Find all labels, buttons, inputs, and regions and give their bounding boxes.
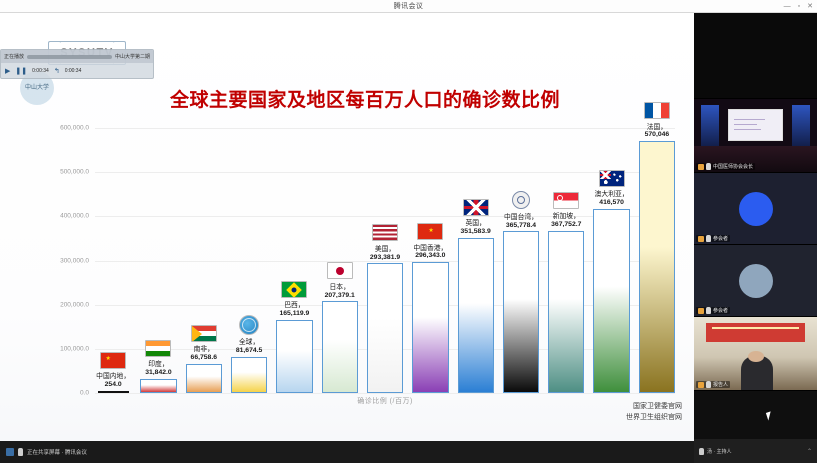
bar-value-label: 31,842.0 xyxy=(145,369,171,377)
bar-value-label: 570,046 xyxy=(645,131,670,139)
flag-hongkong-icon: ★ xyxy=(417,223,443,240)
player-seek-bar[interactable] xyxy=(27,55,112,59)
bar xyxy=(593,209,629,393)
bar-value-label: 365,778.4 xyxy=(504,222,538,230)
y-axis-tick: 100,000.0 xyxy=(60,345,89,352)
y-axis-tick: 200,000.0 xyxy=(60,301,89,308)
bar-item: 日本，207,379.1 xyxy=(322,128,358,393)
y-axis-tick: 400,000.0 xyxy=(60,213,89,220)
bar-label: 美国，293,381.9 xyxy=(370,246,400,262)
bar-item: 英国，351,583.9 xyxy=(458,128,494,393)
y-axis-tick: 0.0 xyxy=(80,390,89,397)
bar-value-label: 66,758.6 xyxy=(191,354,217,362)
school-badge-label: 中山大学 xyxy=(25,85,49,92)
pin-icon xyxy=(698,164,704,170)
bar-item: 印度，31,842.0 xyxy=(140,128,176,393)
globe-meridian-icon xyxy=(242,318,256,332)
bar xyxy=(367,263,403,393)
brazil-globe-icon xyxy=(292,287,297,292)
microphone-icon xyxy=(706,235,711,242)
flag-india-icon xyxy=(145,340,171,357)
bar-item: 南非，66,758.6 xyxy=(186,128,222,393)
bar-label: 中国香港，296,343.0 xyxy=(413,245,447,261)
bar-item: 全球，81,674.5 xyxy=(231,128,267,393)
flag-china-icon: ★ xyxy=(100,352,126,369)
presentation-screen xyxy=(728,109,782,141)
bar-label: 澳大利亚，416,570 xyxy=(595,191,629,207)
bar xyxy=(503,231,539,393)
window-title: 腾讯会议 xyxy=(394,1,424,11)
grid-line xyxy=(95,393,675,394)
bar-category-label: 中国香港， xyxy=(413,245,447,253)
bar xyxy=(548,231,584,393)
bar xyxy=(458,238,494,393)
bar-item: 法国，570,046 xyxy=(639,128,675,393)
source-line-1: 国家卫健委官网 xyxy=(626,402,682,413)
current-time-label: 0:00:34 xyxy=(32,68,49,74)
bar-label: 中国台湾，365,778.4 xyxy=(504,214,538,230)
bar-category-label: 全球， xyxy=(236,339,262,347)
bar-category-label: 中国内地， xyxy=(96,373,130,381)
bar-value-label: 81,674.5 xyxy=(236,347,262,355)
bar-item: 中国香港，296,343.0★ xyxy=(412,128,448,393)
pin-icon xyxy=(698,382,704,388)
bar-label: 新加坡，367,752.7 xyxy=(551,213,581,229)
flag-singapore-icon xyxy=(553,192,579,209)
bar-series: 中国内地，254.0★印度，31,842.0南非，66,758.6全球，81,6… xyxy=(95,128,675,393)
y-axis: 600,000.0500,000.0400,000.0300,000.0200,… xyxy=(35,128,93,393)
bar-value-label: 351,583.9 xyxy=(461,228,491,236)
bar-category-label: 英国， xyxy=(461,220,491,228)
bar xyxy=(186,364,222,393)
stage-light-left xyxy=(701,105,718,146)
flag-australia-icon xyxy=(599,170,625,187)
bar xyxy=(140,379,176,393)
crescent-icon xyxy=(557,195,563,201)
bar-item: 澳大利亚，416,570 xyxy=(593,128,629,393)
maximize-icon[interactable]: ▫ xyxy=(798,3,800,10)
bar-category-label: 巴西， xyxy=(279,302,309,310)
minimize-icon[interactable]: — xyxy=(784,3,791,10)
flag-brazil-icon xyxy=(281,281,307,298)
bar xyxy=(98,391,129,393)
banner-text-line xyxy=(712,327,799,329)
bar-label: 英国，351,583.9 xyxy=(461,220,491,236)
y-axis-tick: 300,000.0 xyxy=(60,257,89,264)
bar-item: 中国台湾，365,778.4 xyxy=(503,128,539,393)
bar-label: 南非，66,758.6 xyxy=(191,346,217,362)
flag-taiwan-icon xyxy=(512,191,530,209)
screen-line xyxy=(734,119,765,120)
pin-icon xyxy=(698,236,704,242)
bar-item: 巴西，165,119.9 xyxy=(276,128,312,393)
bar-value-label: 165,119.9 xyxy=(279,310,309,318)
pin-icon xyxy=(698,308,704,314)
participant-name: 参会者 xyxy=(713,235,728,242)
total-time-label: 0:00:34 xyxy=(65,68,82,74)
bar-item: 美国，293,381.9 xyxy=(367,128,403,393)
pause-icon[interactable]: ❚❚ xyxy=(15,67,27,75)
star-icon: ★ xyxy=(105,356,110,362)
play-icon[interactable]: ▶ xyxy=(5,67,10,75)
app-icon[interactable] xyxy=(6,448,14,456)
self-view-bar[interactable]: 汤 · 主持人 ⌃ xyxy=(694,439,817,463)
y-axis-tick: 500,000.0 xyxy=(60,169,89,176)
flag-france-icon xyxy=(644,102,670,119)
bar-item: 中国内地，254.0★ xyxy=(95,128,131,393)
video-tile[interactable]: 参会者 xyxy=(694,173,817,245)
bar-item: 新加坡，367,752.7 xyxy=(548,128,584,393)
x-axis-label: 确诊比例 (/百万) xyxy=(95,396,675,406)
flag-japan-icon xyxy=(327,262,353,279)
video-tile[interactable] xyxy=(694,13,817,99)
bar-value-label: 254.0 xyxy=(96,381,130,389)
sa-chevron-icon xyxy=(192,326,202,342)
slide-canvas: SYSUTV 中山大学 正在播放 中山大学第二期 ▶ ❚❚ 0:00:34 ↰ … xyxy=(0,13,694,441)
screen-line xyxy=(734,129,761,130)
watermark-rule-top xyxy=(58,41,116,42)
event-banner xyxy=(706,323,804,342)
taskbar-label: 正在共享屏幕 · 腾讯会议 xyxy=(27,448,87,456)
flag-uk-overlay xyxy=(464,200,488,215)
flag-globe-icon xyxy=(239,315,259,335)
microphone-icon xyxy=(706,163,711,170)
player-controls-row[interactable]: ▶ ❚❚ 0:00:34 ↰ 0:00:34 xyxy=(1,63,153,79)
bar-category-label: 新加坡， xyxy=(551,213,581,221)
participant-name: 报告人 xyxy=(713,381,728,388)
bar xyxy=(639,141,675,393)
bar-label: 全球，81,674.5 xyxy=(236,339,262,355)
flag-southafrica-icon xyxy=(191,325,217,342)
chart-plot-area: 600,000.0500,000.0400,000.0300,000.0200,… xyxy=(95,128,675,393)
bar xyxy=(322,301,358,393)
video-player-overlay[interactable]: 正在播放 中山大学第二期 ▶ ❚❚ 0:00:34 ↰ 0:00:34 xyxy=(0,49,154,79)
bar-category-label: 中国台湾， xyxy=(504,214,538,222)
bar xyxy=(276,320,312,393)
screen-root: 腾讯会议 — ▫ ✕ SYSUTV 中山大学 正在播放 中山大学 xyxy=(0,0,817,463)
video-tile[interactable]: 报告人 xyxy=(694,317,817,391)
bar-label: 印度，31,842.0 xyxy=(145,361,171,377)
close-icon[interactable]: ✕ xyxy=(807,3,813,10)
self-name-label: 汤 · 主持人 xyxy=(707,448,731,455)
bar-value-label: 293,381.9 xyxy=(370,254,400,262)
video-tile[interactable]: 参会者 xyxy=(694,245,817,317)
japan-sun-icon xyxy=(336,267,344,275)
star-icon: ★ xyxy=(428,228,433,234)
avatar xyxy=(739,192,773,226)
player-status-label: 正在播放 xyxy=(4,53,24,60)
participant-name-tag: 参会者 xyxy=(696,307,730,314)
bar-label: 法国，570,046 xyxy=(645,124,670,140)
bar-category-label: 澳大利亚， xyxy=(595,191,629,199)
shared-screen-stage: SYSUTV 中山大学 正在播放 中山大学第二期 ▶ ❚❚ 0:00:34 ↰ … xyxy=(0,13,694,441)
player-progress-row[interactable]: 正在播放 中山大学第二期 xyxy=(1,50,153,63)
participant-name-tag: 报告人 xyxy=(696,381,730,388)
participant-name-tag: 参会者 xyxy=(696,235,730,242)
microphone-icon[interactable] xyxy=(18,448,23,456)
source-line-2: 世界卫生组织官网 xyxy=(626,413,682,424)
participant-name-tag: 中国医师协会会长 xyxy=(696,163,755,170)
bar-category-label: 美国， xyxy=(370,246,400,254)
bar-label: 巴西，165,119.9 xyxy=(279,302,309,318)
stage-light-right xyxy=(792,105,809,146)
window-title-bar: 腾讯会议 — ▫ ✕ xyxy=(0,0,817,13)
microphone-icon xyxy=(706,307,711,314)
bar-value-label: 296,343.0 xyxy=(413,252,447,260)
bar-category-label: 法国， xyxy=(645,124,670,132)
y-axis-tick: 600,000.0 xyxy=(60,125,89,132)
source-citation: 国家卫健委官网 世界卫生组织官网 xyxy=(626,402,682,423)
flag-uk-icon xyxy=(463,199,489,216)
union-jack-canton-icon xyxy=(600,171,612,179)
screen-line xyxy=(734,124,757,125)
participant-video-rail: 中国医师协会会长 参会者 参会者 xyxy=(694,13,817,463)
bar-value-label: 367,752.7 xyxy=(551,221,581,229)
participant-name: 参会者 xyxy=(713,307,728,314)
bar-category-label: 日本， xyxy=(325,284,355,292)
participant-name: 中国医师协会会长 xyxy=(713,163,753,170)
video-tile[interactable]: 中国医师协会会长 xyxy=(694,99,817,173)
bar xyxy=(231,357,267,393)
window-controls: — ▫ ✕ xyxy=(784,0,813,13)
bar-category-label: 南非， xyxy=(191,346,217,354)
microphone-icon xyxy=(706,381,711,388)
emblem-icon xyxy=(517,196,525,204)
bar-label: 日本，207,379.1 xyxy=(325,284,355,300)
microphone-icon[interactable] xyxy=(699,448,704,455)
bar-value-label: 416,570 xyxy=(595,199,629,207)
flag-usa-icon xyxy=(372,224,398,241)
bar-value-label: 207,379.1 xyxy=(325,292,355,300)
bar xyxy=(412,262,448,393)
bar-label: 中国内地，254.0 xyxy=(96,373,130,389)
slide-title: 全球主要国家及地区每百万人口的确诊数比例 xyxy=(110,85,620,112)
bar-category-label: 印度， xyxy=(145,361,171,369)
avatar xyxy=(739,264,773,298)
bottom-taskbar: 正在共享屏幕 · 腾讯会议 xyxy=(0,441,694,463)
chevron-up-icon[interactable]: ⌃ xyxy=(807,448,812,455)
replay-icon[interactable]: ↰ xyxy=(54,67,60,75)
player-subtitle-label: 中山大学第二期 xyxy=(115,53,150,60)
